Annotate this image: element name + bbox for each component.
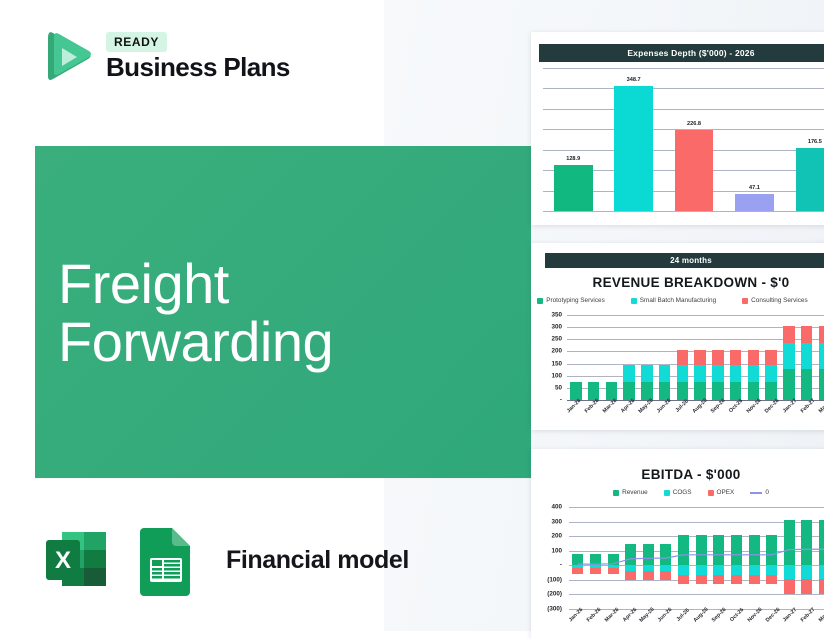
bar-slot: 348.7	[603, 68, 663, 211]
bar-segment	[766, 535, 777, 565]
stacked-bar[interactable]	[783, 326, 794, 400]
bar-group	[567, 315, 824, 400]
hero-line-1: Freight	[58, 255, 333, 313]
bar-value-label: 348.7	[627, 77, 641, 83]
x-tick: Oct-26	[725, 402, 743, 428]
revenue-plot-area: 35030025020015010050-	[535, 315, 824, 400]
legend-swatch	[664, 490, 670, 496]
bar[interactable]: 348.7	[614, 86, 653, 211]
bar-slot	[656, 315, 674, 400]
bar-segment	[783, 326, 794, 344]
x-tick: Aug-26	[690, 611, 708, 637]
bar-segment	[731, 535, 742, 565]
stacked-bar[interactable]	[730, 350, 741, 400]
x-tick: Feb-26	[581, 402, 599, 428]
y-tick-label: 100	[551, 547, 562, 554]
bar-segment	[590, 568, 601, 574]
bar-slot	[691, 315, 709, 400]
y-tick-label: 50	[555, 384, 562, 391]
x-tick: Dec-26	[762, 611, 780, 637]
x-tick: Dec-26	[761, 402, 779, 428]
chart-card-revenue[interactable]: 24 months REVENUE BREAKDOWN - $'0 Protot…	[531, 243, 824, 430]
chart-card-expenses[interactable]: Expenses Depth ($'000) - 2026 128.9348.7…	[531, 32, 824, 225]
bar-segment	[819, 565, 824, 579]
legend-swatch	[750, 492, 762, 494]
stacked-bar[interactable]	[801, 326, 812, 400]
ebitda-plot-area: 400300200100-(100)(200)(300)	[535, 507, 824, 609]
bar-segment	[659, 382, 670, 400]
bar-segment	[590, 554, 601, 565]
x-tick: Jun-26	[653, 402, 671, 428]
bar-segment	[749, 565, 760, 574]
chart-card-ebitda[interactable]: EBITDA - $'000 RevenueCOGSOPEX0 40030020…	[531, 449, 824, 639]
x-tick: Feb-27	[797, 611, 815, 637]
bar-slot	[709, 315, 727, 400]
y-tick-label: (100)	[547, 576, 562, 583]
positive-stack	[784, 520, 795, 565]
stacked-bar[interactable]	[659, 365, 670, 400]
bar-group: 128.9348.7226.847.1176.5	[543, 68, 824, 211]
x-tick: Jul-26	[672, 611, 690, 637]
bar-slot	[675, 507, 693, 609]
stacked-bar[interactable]	[819, 326, 824, 400]
stacked-bar[interactable]	[641, 365, 652, 400]
slide-canvas: READY Business Plans Freight Forwarding …	[0, 0, 824, 631]
bar[interactable]: 226.8	[675, 130, 714, 211]
legend-swatch	[742, 298, 748, 304]
x-tick: Jul-26	[671, 402, 689, 428]
y-tick-label: 300	[551, 518, 562, 525]
stacked-bar[interactable]	[766, 507, 777, 609]
bar-segment	[766, 575, 777, 584]
positive-stack	[749, 535, 760, 565]
bar[interactable]: 176.5	[796, 148, 824, 211]
bar-segment	[801, 343, 812, 368]
stacked-bar[interactable]	[606, 382, 617, 400]
ebitda-x-axis: Jan-26Feb-26Mar-26Apr-26May-26Jun-26Jul-…	[565, 611, 824, 637]
bar-group	[569, 507, 824, 609]
bar-slot	[762, 315, 780, 400]
y-tick-label: 100	[551, 372, 562, 379]
y-tick-label: 250	[551, 336, 562, 343]
revenue-legend: Prototyping ServicesSmall Batch Manufact…	[531, 297, 824, 304]
bar-value-label: 128.9	[566, 156, 580, 162]
stacked-bar[interactable]	[765, 350, 776, 400]
bar-segment	[677, 350, 688, 365]
positive-stack	[660, 544, 671, 565]
negative-stack	[678, 565, 689, 584]
y-tick-label: 200	[551, 533, 562, 540]
bar-segment	[696, 575, 707, 584]
bar-value-label: 47.1	[749, 185, 760, 191]
positive-stack	[643, 544, 654, 565]
positive-stack	[801, 520, 812, 565]
positive-stack	[696, 535, 707, 565]
negative-stack	[801, 565, 812, 594]
bar-segment	[731, 575, 742, 584]
bar-slot	[622, 507, 640, 609]
bar-segment	[696, 535, 707, 565]
stacked-bar[interactable]	[570, 382, 581, 400]
revenue-period-banner: 24 months	[545, 253, 824, 268]
stacked-bar[interactable]	[801, 507, 812, 609]
legend-item[interactable]: OPEX	[708, 489, 735, 496]
positive-stack	[625, 544, 636, 565]
expenses-plot-area: 128.9348.7226.847.1176.5	[543, 68, 824, 211]
bar-segment	[748, 365, 759, 382]
y-axis: 35030025020015010050-	[535, 315, 565, 400]
stacked-bar[interactable]	[625, 507, 636, 609]
x-tick: Oct-26	[726, 611, 744, 637]
bar-segment	[643, 571, 654, 579]
brand-text: READY Business Plans	[106, 32, 290, 81]
bar-segment	[572, 554, 583, 565]
negative-stack	[572, 565, 583, 574]
bar-value-label: 176.5	[808, 139, 822, 145]
ebitda-legend: RevenueCOGSOPEX0	[531, 489, 824, 496]
x-tick: May-26	[635, 402, 653, 428]
x-tick: Feb-27	[797, 402, 815, 428]
bar-segment	[678, 575, 689, 584]
microsoft-excel-icon: X	[36, 520, 116, 600]
brand-logo-block[interactable]: READY Business Plans	[32, 26, 290, 88]
google-sheets-icon	[130, 520, 202, 600]
revenue-chart-title: REVENUE BREAKDOWN - $'0	[531, 275, 824, 290]
bar-slot	[798, 507, 816, 609]
legend-item[interactable]: Consulting Services	[742, 297, 807, 304]
bar-segment	[819, 369, 824, 400]
negative-stack	[643, 565, 654, 580]
y-tick-label: 300	[551, 324, 562, 331]
bar-segment	[801, 565, 812, 579]
x-tick: Sep-26	[708, 611, 726, 637]
x-tick: Jan-26	[563, 402, 581, 428]
bar-slot	[638, 315, 656, 400]
bar-segment	[749, 535, 760, 565]
bar-slot	[657, 507, 675, 609]
svg-text:X: X	[55, 547, 71, 574]
y-tick-label: (200)	[547, 591, 562, 598]
bar-segment	[819, 326, 824, 344]
expenses-chart-title: Expenses Depth ($'000) - 2026	[539, 44, 824, 62]
stacked-bar[interactable]	[819, 507, 824, 609]
bar-segment	[572, 568, 583, 574]
bar-slot: 176.5	[785, 68, 824, 211]
positive-stack	[731, 535, 742, 565]
bar-segment	[784, 520, 795, 565]
bar-segment	[713, 565, 724, 574]
bar-segment	[623, 365, 634, 382]
bar-segment	[819, 520, 824, 565]
stacked-bar[interactable]	[677, 350, 688, 400]
negative-stack	[819, 565, 824, 594]
bar-slot	[798, 315, 816, 400]
legend-swatch	[708, 490, 714, 496]
stacked-bar[interactable]	[784, 507, 795, 609]
stacked-bar[interactable]	[712, 350, 723, 400]
bar-segment	[731, 565, 742, 574]
x-tick: Feb-26	[583, 611, 601, 637]
bar-segment	[608, 568, 619, 574]
stacked-bar[interactable]	[623, 365, 634, 400]
x-tick: Jan-27	[780, 611, 798, 637]
bar-slot: 226.8	[664, 68, 724, 211]
negative-stack	[608, 565, 619, 574]
bar-segment	[696, 565, 707, 574]
legend-swatch	[537, 298, 543, 304]
negative-stack	[696, 565, 707, 584]
bar-segment	[765, 365, 776, 382]
legend-swatch	[613, 490, 619, 496]
ready-badge: READY	[106, 32, 167, 52]
bar-segment	[765, 350, 776, 365]
bar-segment	[625, 544, 636, 565]
bar-slot	[780, 315, 798, 400]
bar-slot	[781, 507, 799, 609]
legend-label: COGS	[673, 489, 692, 496]
x-tick: Aug-26	[689, 402, 707, 428]
y-tick-label: 350	[551, 312, 562, 319]
y-tick-label: -	[560, 562, 562, 569]
bar-segment	[570, 382, 581, 400]
bar-slot	[816, 507, 824, 609]
y-axis: 400300200100-(100)(200)(300)	[535, 507, 565, 609]
legend-label: Prototyping Services	[546, 297, 605, 304]
legend-label: 0	[765, 489, 769, 496]
stacked-bar[interactable]	[694, 350, 705, 400]
bar-segment	[660, 544, 671, 565]
bar-segment	[766, 565, 777, 574]
bar-segment	[713, 575, 724, 584]
bar[interactable]: 128.9	[554, 165, 593, 211]
stacked-bar[interactable]	[713, 507, 724, 609]
bar-value-label: 226.8	[687, 121, 701, 127]
bar[interactable]: 47.1	[735, 194, 774, 211]
stacked-bar[interactable]	[588, 382, 599, 400]
legend-item[interactable]: Prototyping Services	[537, 297, 605, 304]
stacked-bar[interactable]	[608, 507, 619, 609]
bar-segment	[819, 579, 824, 594]
x-tick: Nov-26	[744, 611, 762, 637]
stacked-bar[interactable]	[660, 507, 671, 609]
legend-swatch	[631, 298, 637, 304]
bar-segment	[678, 565, 689, 574]
negative-stack	[625, 565, 636, 580]
legend-item[interactable]: 0	[750, 489, 769, 496]
bar-segment	[641, 365, 652, 382]
y-tick-label: 200	[551, 348, 562, 355]
hero-line-2: Forwarding	[58, 313, 333, 371]
positive-stack	[590, 554, 601, 565]
negative-stack	[660, 565, 671, 580]
bar-slot	[587, 507, 605, 609]
bar-segment	[801, 579, 812, 594]
x-tick: Mar-26	[599, 402, 617, 428]
bar-slot: 128.9	[543, 68, 603, 211]
bar-slot: 47.1	[724, 68, 784, 211]
x-tick: Nov-26	[743, 402, 761, 428]
stacked-bar[interactable]	[678, 507, 689, 609]
positive-stack	[766, 535, 777, 565]
bar-slot	[567, 315, 585, 400]
bar-segment	[677, 382, 688, 400]
bar-segment	[588, 382, 599, 400]
financial-model-label: Financial model	[226, 546, 409, 575]
positive-stack	[572, 554, 583, 565]
stacked-bar[interactable]	[731, 507, 742, 609]
y-tick-label: (300)	[547, 606, 562, 613]
bar-segment	[659, 365, 670, 382]
y-tick-label: 400	[551, 504, 562, 511]
bar-slot	[745, 315, 763, 400]
bar-segment	[730, 350, 741, 365]
bar-segment	[730, 365, 741, 382]
x-tick: May-26	[637, 611, 655, 637]
x-tick: Jan-27	[779, 402, 797, 428]
legend-label: Revenue	[622, 489, 648, 496]
negative-stack	[590, 565, 601, 574]
positive-stack	[608, 554, 619, 565]
gridline	[569, 609, 824, 610]
bar-segment	[608, 554, 619, 565]
negative-stack	[731, 565, 742, 584]
bar-segment	[694, 350, 705, 365]
bar-slot	[585, 315, 603, 400]
bar-segment	[784, 579, 795, 594]
negative-stack	[766, 565, 777, 584]
x-tick: Mar-26	[601, 611, 619, 637]
x-tick: Mar-27	[815, 611, 824, 637]
bar-segment	[819, 343, 824, 368]
bar-slot	[710, 507, 728, 609]
stacked-bar[interactable]	[696, 507, 707, 609]
bar-segment	[712, 365, 723, 382]
x-tick: Mar-27	[815, 402, 824, 428]
stacked-bar[interactable]	[749, 507, 760, 609]
bar-slot	[603, 315, 621, 400]
bar-segment	[784, 565, 795, 579]
bar-slot	[728, 507, 746, 609]
bar-slot	[569, 507, 587, 609]
y-tick-label: -	[560, 397, 562, 404]
bar-segment	[749, 575, 760, 584]
bar-segment	[694, 365, 705, 382]
positive-stack	[713, 535, 724, 565]
bar-segment	[606, 382, 617, 400]
bar-segment	[677, 365, 688, 382]
positive-stack	[819, 520, 824, 565]
x-tick: Jan-26	[565, 611, 583, 637]
legend-label: OPEX	[717, 489, 735, 496]
stacked-bar[interactable]	[572, 507, 583, 609]
axis-baseline	[567, 400, 824, 401]
stacked-bar[interactable]	[643, 507, 654, 609]
negative-stack	[749, 565, 760, 584]
legend-item[interactable]: Small Batch Manufacturing	[631, 297, 716, 304]
negative-stack	[713, 565, 724, 584]
bar-slot	[745, 507, 763, 609]
bar-segment	[712, 350, 723, 365]
bar-segment	[748, 350, 759, 365]
bar-segment	[801, 369, 812, 400]
bar-slot	[674, 315, 692, 400]
legend-label: Consulting Services	[751, 297, 807, 304]
ebitda-chart-title: EBITDA - $'000	[531, 467, 824, 482]
stacked-bar[interactable]	[748, 350, 759, 400]
bar-segment	[660, 571, 671, 579]
gridline	[543, 211, 824, 212]
negative-stack	[784, 565, 795, 594]
legend-item[interactable]: COGS	[664, 489, 692, 496]
bar-slot	[620, 315, 638, 400]
bar-segment	[801, 326, 812, 344]
bar-slot	[640, 507, 658, 609]
bar-slot	[692, 507, 710, 609]
y-tick-label: 150	[551, 360, 562, 367]
x-tick: Apr-26	[619, 611, 637, 637]
x-tick: Sep-26	[707, 402, 725, 428]
bar-segment	[643, 544, 654, 565]
x-tick: Apr-26	[617, 402, 635, 428]
bar-slot	[816, 315, 824, 400]
bar-segment	[783, 369, 794, 400]
bar-slot	[763, 507, 781, 609]
legend-label: Small Batch Manufacturing	[640, 297, 716, 304]
x-tick: Jun-26	[654, 611, 672, 637]
stacked-bar[interactable]	[590, 507, 601, 609]
bar-segment	[625, 571, 636, 579]
positive-stack	[678, 535, 689, 565]
legend-item[interactable]: Revenue	[613, 489, 648, 496]
bar-segment	[801, 520, 812, 565]
play-triangle-logo-icon	[32, 26, 94, 88]
bar-slot	[604, 507, 622, 609]
revenue-x-axis: Jan-26Feb-26Mar-26Apr-26May-26Jun-26Jul-…	[563, 402, 824, 428]
bar-segment	[623, 382, 634, 400]
page-title: Freight Forwarding	[58, 255, 333, 370]
bar-segment	[783, 343, 794, 368]
format-row: X Financial model	[36, 520, 409, 600]
bar-segment	[713, 535, 724, 565]
brand-name: Business Plans	[106, 54, 290, 81]
bar-segment	[678, 535, 689, 565]
bar-slot	[727, 315, 745, 400]
